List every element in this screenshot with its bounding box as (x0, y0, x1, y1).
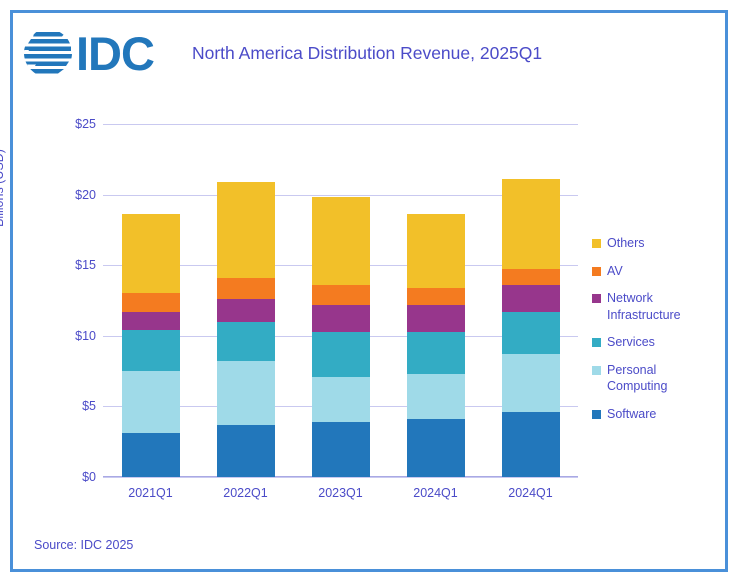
legend-swatch-icon (592, 267, 601, 276)
legend-item[interactable]: Services (592, 334, 720, 351)
x-axis-tick-label: 2024Q1 (483, 486, 578, 500)
header: IDC North America Distribution Revenue, … (22, 22, 542, 84)
bar-segment[interactable] (312, 377, 370, 422)
legend-item[interactable]: Network Infrastructure (592, 290, 720, 323)
bar-segment[interactable] (502, 354, 560, 412)
y-axis-tick-label: $10 (75, 329, 96, 343)
legend-swatch-icon (592, 338, 601, 347)
chart-legend: OthersAVNetwork InfrastructureServicesPe… (592, 235, 720, 433)
x-axis-tick-label: 2023Q1 (293, 486, 388, 500)
idc-globe-icon (22, 27, 74, 79)
y-axis-tick-label: $0 (82, 470, 96, 484)
gridline (103, 124, 578, 125)
bar-segment[interactable] (312, 197, 370, 285)
legend-swatch-icon (592, 294, 601, 303)
bar-segment[interactable] (407, 305, 465, 332)
x-axis-tick-label: 2022Q1 (198, 486, 293, 500)
bar-segment[interactable] (312, 305, 370, 332)
legend-item[interactable]: AV (592, 263, 720, 280)
bar-segment[interactable] (502, 285, 560, 312)
bar-segment[interactable] (407, 374, 465, 419)
bar-stack[interactable] (217, 182, 275, 477)
idc-logo: IDC (22, 25, 154, 81)
bar-segment[interactable] (122, 214, 180, 293)
legend-swatch-icon (592, 239, 601, 248)
x-axis-tick-label: 2024Q1 (388, 486, 483, 500)
bar-segment[interactable] (312, 285, 370, 305)
legend-item[interactable]: Personal Computing (592, 362, 720, 395)
bar-segment[interactable] (407, 332, 465, 374)
bar-segment[interactable] (312, 332, 370, 377)
legend-label: Network Infrastructure (607, 290, 720, 323)
legend-item[interactable]: Software (592, 406, 720, 423)
legend-label: Services (607, 334, 655, 351)
idc-logo-text: IDC (76, 30, 154, 77)
bar-segment[interactable] (217, 278, 275, 299)
bar-stack[interactable] (312, 197, 370, 477)
gridline (103, 477, 578, 478)
legend-swatch-icon (592, 366, 601, 375)
y-axis-tick-label: $5 (82, 399, 96, 413)
bar-segment[interactable] (407, 288, 465, 305)
chart-title: North America Distribution Revenue, 2025… (192, 43, 542, 64)
bar-segment[interactable] (217, 299, 275, 322)
y-axis-tick-label: $20 (75, 188, 96, 202)
source-note: Source: IDC 2025 (34, 538, 133, 552)
y-axis-tick-label: $25 (75, 117, 96, 131)
bar-segment[interactable] (312, 422, 370, 477)
bar-segment[interactable] (122, 433, 180, 477)
bar-segment[interactable] (217, 182, 275, 278)
bar-segment[interactable] (217, 361, 275, 425)
legend-label: Personal Computing (607, 362, 720, 395)
bar-segment[interactable] (502, 179, 560, 269)
plot-area (103, 124, 578, 477)
legend-label: Others (607, 235, 645, 252)
legend-item[interactable]: Others (592, 235, 720, 252)
bar-segment[interactable] (122, 293, 180, 311)
bar-segment[interactable] (407, 214, 465, 287)
legend-label: Software (607, 406, 656, 423)
bar-segment[interactable] (502, 412, 560, 477)
bar-segment[interactable] (502, 269, 560, 285)
bar-segment[interactable] (122, 371, 180, 433)
bar-segment[interactable] (502, 312, 560, 354)
bar-stack[interactable] (502, 179, 560, 477)
legend-label: AV (607, 263, 623, 280)
bar-segment[interactable] (217, 322, 275, 362)
bar-segment[interactable] (217, 425, 275, 477)
y-axis-title: Billions (USD) (0, 108, 6, 268)
y-axis-tick-label: $15 (75, 258, 96, 272)
bar-segment[interactable] (407, 419, 465, 477)
bar-segment[interactable] (122, 330, 180, 371)
bar-segment[interactable] (122, 312, 180, 330)
x-axis-tick-label: 2021Q1 (103, 486, 198, 500)
slide-canvas: IDC North America Distribution Revenue, … (0, 0, 738, 582)
bar-stack[interactable] (407, 214, 465, 477)
bar-stack[interactable] (122, 214, 180, 477)
y-axis-tick-labels: $0$5$10$15$20$25 (50, 124, 96, 477)
legend-swatch-icon (592, 410, 601, 419)
